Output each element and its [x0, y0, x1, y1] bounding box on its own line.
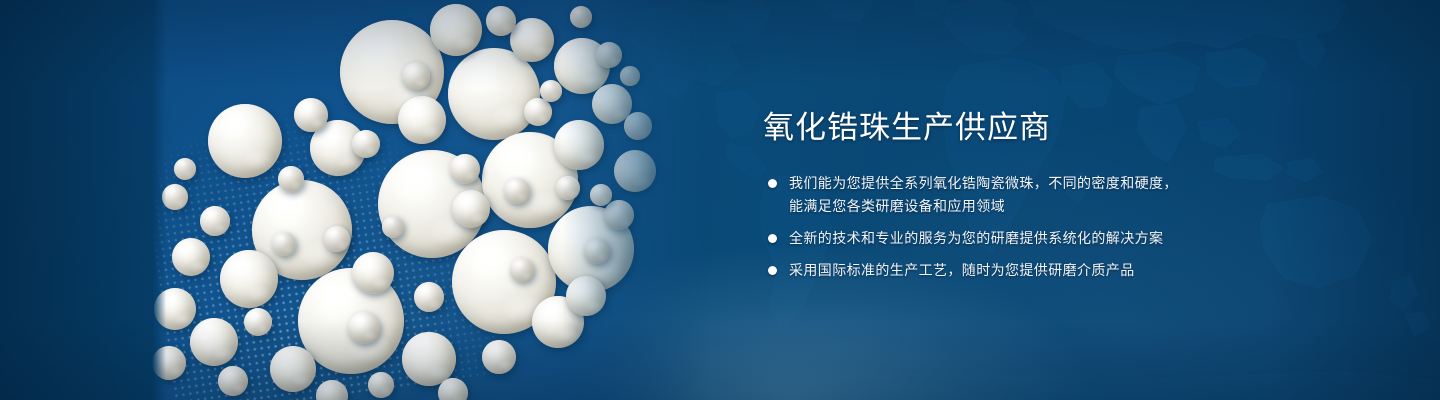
bullet-dot-icon: [768, 179, 777, 188]
banner-content: 氧化锆珠生产供应商 我们能为您提供全系列氧化锆陶瓷微珠，不同的密度和硬度， 能满…: [763, 108, 1233, 282]
hero-banner: 氧化锆珠生产供应商 我们能为您提供全系列氧化锆陶瓷微珠，不同的密度和硬度， 能满…: [0, 0, 1440, 400]
list-item-line: 我们能为您提供全系列氧化锆陶瓷微珠，不同的密度和硬度，: [789, 172, 1233, 195]
page-title: 氧化锆珠生产供应商: [763, 108, 1233, 148]
list-item-line: 全新的技术和专业的服务为您的研磨提供系统化的解决方案: [789, 227, 1233, 250]
list-item-line: 能满足您各类研磨设备和应用领域: [789, 195, 1233, 218]
feature-list: 我们能为您提供全系列氧化锆陶瓷微珠，不同的密度和硬度， 能满足您各类研磨设备和应…: [763, 172, 1233, 282]
list-item-line: 采用国际标准的生产工艺，随时为您提供研磨介质产品: [789, 259, 1233, 282]
bullet-dot-icon: [768, 266, 777, 275]
list-item: 全新的技术和专业的服务为您的研磨提供系统化的解决方案: [763, 227, 1233, 250]
bullet-dot-icon: [768, 234, 777, 243]
list-item: 我们能为您提供全系列氧化锆陶瓷微珠，不同的密度和硬度， 能满足您各类研磨设备和应…: [763, 172, 1233, 218]
list-item: 采用国际标准的生产工艺，随时为您提供研磨介质产品: [763, 259, 1233, 282]
